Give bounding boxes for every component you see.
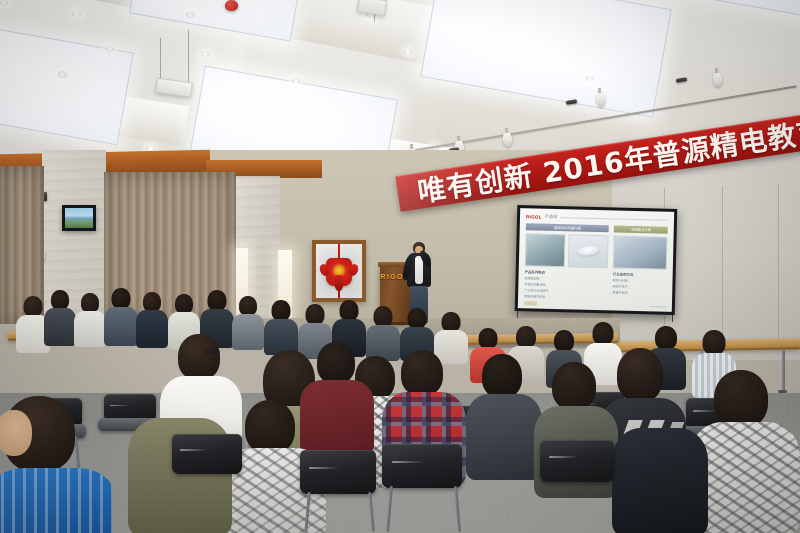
chair-front-4[interactable] (300, 450, 376, 494)
slide-section-a-bar: 通用测试测量仪器 (526, 223, 609, 232)
projected-slide: RIGOL 产品线 通用测试测量仪器 专用解决方案 (518, 208, 674, 312)
attendee-torso (104, 307, 138, 346)
attendee-head (479, 328, 498, 349)
attendee-head (442, 312, 461, 332)
attendee-head (317, 342, 355, 384)
slide-group-a-bullet-1: 高性能指标 (524, 276, 607, 282)
attendee-torso (0, 468, 112, 533)
slide-header: RIGOL 产品线 (526, 213, 668, 222)
chair-front-1[interactable] (172, 434, 242, 474)
attendee-back-3 (74, 293, 106, 347)
fire-alarm-icon (225, 0, 238, 11)
slide-group-b-title: 行业应用方向 (613, 271, 667, 277)
attendee-head (714, 370, 768, 428)
attendee-head (401, 350, 443, 396)
slide-section-b-bar: 专用解决方案 (614, 225, 668, 233)
downlight-1 (72, 11, 81, 17)
chair-backrest (382, 444, 462, 488)
attendee-head (239, 296, 257, 316)
attendee-head (178, 334, 220, 380)
chair-backrest (300, 450, 376, 494)
attendee-head (143, 292, 161, 312)
slide-group-a-bullet-4: 便捷的操作体验 (524, 294, 607, 300)
knot-tassel (335, 275, 344, 291)
slide-group-a-text: 产品系列特点 高性能指标 丰富的测量功能 广泛的行业适用性 便捷的操作体验 (524, 269, 608, 300)
slide-group-a-bullet-3: 广泛的行业适用性 (524, 288, 607, 294)
slide-group-b-thumbs (613, 235, 668, 269)
chair-backrest (540, 440, 614, 482)
attendee-head (51, 290, 69, 310)
landscape-photo-icon (65, 208, 93, 228)
slide-footer: www.rigol.com (524, 301, 666, 308)
attendee-head (208, 290, 227, 311)
slide-product-thumb-2 (568, 234, 609, 268)
slide-thumbnail-row (525, 233, 668, 269)
attendee-head (306, 304, 325, 325)
chair-front-2[interactable] (382, 444, 462, 488)
attendee-back-4 (104, 288, 138, 346)
framed-landscape-picture (62, 205, 96, 231)
slide-group-b-bullet-1: 教育与科研 (613, 278, 667, 283)
attendee-head-ponytail (617, 348, 663, 402)
chinese-knot-display-case (312, 240, 366, 302)
downlight-10 (586, 76, 594, 81)
slide-product-thumb-3 (613, 235, 668, 269)
attendee-head (24, 296, 43, 317)
downlight-2 (106, 46, 114, 52)
attendee-back-2 (44, 290, 76, 346)
downlight-8 (404, 49, 412, 54)
conference-hall-photo: 唯有创新 2016年普源精电教育行业高峰论 RIGOL 产品线 通用测试测量仪器… (0, 0, 800, 533)
downlight-5 (201, 51, 209, 57)
downlight-3 (58, 71, 67, 78)
slide-bullet-row: 产品系列特点 高性能指标 丰富的测量功能 广泛的行业适用性 便捷的操作体验 行业… (524, 269, 667, 301)
attendee-head (554, 330, 574, 352)
chair-backrest (172, 434, 242, 474)
attendee-head (245, 400, 295, 454)
slide-group-a-thumbs (525, 233, 609, 268)
attendee-head (374, 306, 393, 327)
attendee-head (703, 330, 726, 355)
satellite-dish-icon (577, 245, 600, 256)
slide-header-text: 产品线 (545, 214, 558, 220)
slide-rigol-logo: RIGOL (526, 214, 542, 219)
attendee-head (112, 288, 131, 309)
attendee-back-9 (264, 300, 298, 354)
slide-footer-note: www.rigol.com (649, 305, 666, 308)
slide-product-thumb-1 (525, 233, 566, 267)
attendee-head (81, 293, 99, 313)
slide-section-bars: 通用测试测量仪器 专用解决方案 (526, 223, 668, 233)
chair-front-3[interactable] (540, 440, 614, 482)
partition-seam-2 (722, 186, 723, 348)
attendee-front-face (0, 410, 32, 456)
attendee-head (482, 354, 522, 398)
slide-group-a-title: 产品系列特点 (525, 269, 608, 276)
attendee-head (516, 326, 536, 348)
attendee-torso (74, 311, 106, 347)
attendee-head (175, 294, 193, 314)
attendee-head (272, 300, 291, 321)
attendee-white-shirt-glasses-icon (204, 350, 220, 354)
attendee-head (408, 308, 427, 329)
partition-seam-3 (778, 184, 779, 348)
slide-header-rule (560, 217, 668, 221)
hanging-sign-wire-right (188, 30, 189, 82)
attendee-head (340, 300, 359, 321)
attendee-front-blue-right (612, 428, 708, 533)
downlight-9 (292, 78, 300, 83)
attendee-head (655, 326, 677, 350)
attendee-head (593, 322, 614, 345)
attendee-torso (612, 428, 708, 533)
projection-screen: RIGOL 产品线 通用测试测量仪器 专用解决方案 (515, 205, 678, 315)
slide-group-b-bullet-2: 研发与生产 (613, 284, 667, 289)
attendee-torso (466, 394, 542, 480)
slide-footer-tag (524, 301, 537, 305)
downlight-4 (186, 12, 195, 18)
speaker-hand (416, 248, 421, 253)
slide-group-a-bullet-2: 丰富的测量功能 (524, 282, 607, 288)
attendee-torso (44, 308, 76, 346)
slide-group-b-bullet-3: 质量与检测 (612, 290, 666, 295)
downlight-6 (0, 0, 8, 6)
ceiling-light-panel-1 (0, 21, 134, 146)
slide-group-b-text: 行业应用方向 教育与科研 研发与生产 质量与检测 (612, 271, 666, 301)
attendee-dark-shirt-center (466, 354, 542, 476)
attendee-head (552, 362, 596, 410)
